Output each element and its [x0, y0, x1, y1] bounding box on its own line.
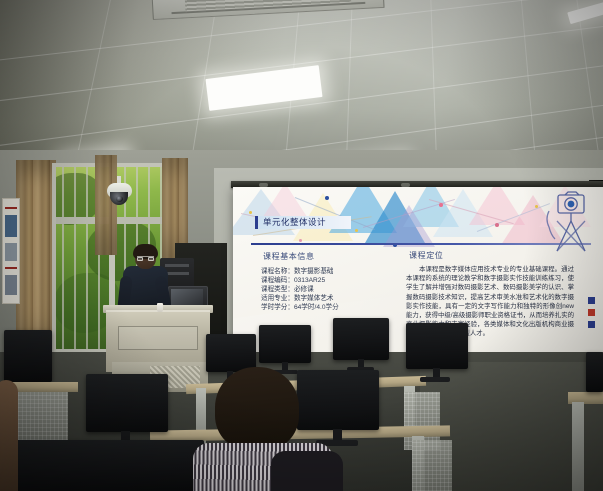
monitor: [586, 352, 603, 392]
desk-panel: [412, 440, 452, 491]
monitor: [14, 440, 204, 491]
cup: [157, 303, 163, 312]
desk-panel: [14, 392, 68, 440]
wall-poster: [2, 198, 20, 304]
monitor: [4, 330, 52, 382]
slide-right-heading: 课程定位: [409, 250, 443, 261]
student-arm: [0, 380, 18, 491]
student-left-edge: [0, 380, 22, 491]
monitor-foot: [420, 377, 450, 382]
slide-nav-squares[interactable]: [588, 297, 595, 328]
student-shoulder-right: [271, 451, 343, 491]
curtain-middle: [95, 155, 117, 255]
presenter-glasses-icon: [137, 256, 154, 261]
monitor: [406, 323, 468, 369]
security-camera-lens: [116, 196, 123, 202]
student-head: [215, 367, 299, 451]
classroom-photo: 单元化整体设计 课程基本信息 课程定位 课程名称：数字摄影基础 课程编码：031…: [0, 0, 603, 491]
course-info-row: 课程编码：0313AR25: [261, 276, 391, 285]
nav-square-2: [588, 309, 595, 316]
camera-tripod-icon: [541, 191, 597, 257]
course-info-row: 课程名称：数字摄影基础: [261, 267, 391, 276]
monitor: [333, 318, 389, 360]
student-foreground: [193, 367, 333, 491]
slide-left-heading: 课程基本信息: [263, 251, 315, 262]
desk-leg: [572, 402, 584, 491]
nav-square-1: [588, 297, 595, 304]
course-info-row: 课程类型：必修课: [261, 285, 391, 294]
slide-title: 单元化整体设计: [255, 216, 351, 229]
lectern-front-panel: [118, 326, 198, 350]
monitor: [86, 374, 168, 432]
monitor: [259, 325, 311, 363]
nav-square-3: [588, 321, 595, 328]
